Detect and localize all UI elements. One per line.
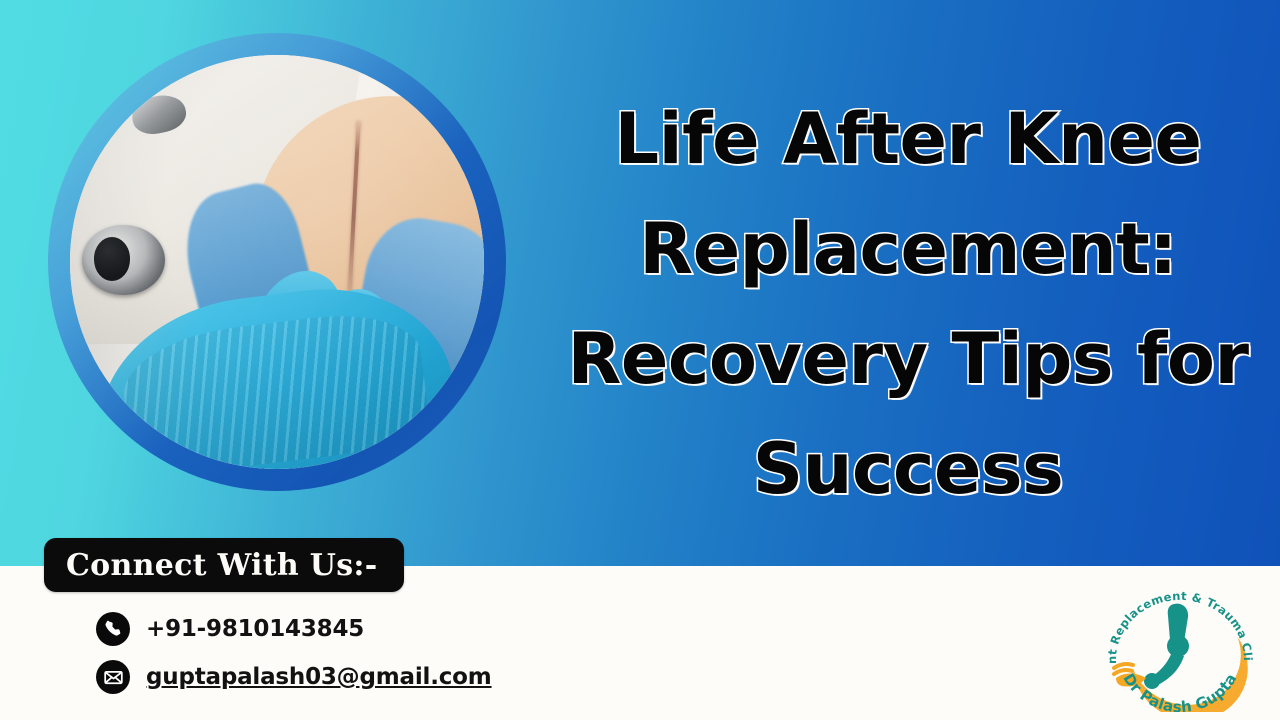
phone-number[interactable]: +91-9810143845 (146, 616, 364, 642)
envelope-icon (96, 660, 130, 694)
logo-bone-joint (1144, 604, 1189, 689)
photo-vignette (70, 55, 484, 469)
hero-photo-image (70, 55, 484, 469)
connect-with-us-badge: Connect With Us:- (44, 538, 404, 592)
connect-with-us-label: Connect With Us:- (66, 548, 378, 583)
contact-list: +91-9810143845 guptapalash03@gmail.com (96, 612, 492, 694)
page-title: Life After Knee Replacement: Recovery Ti… (552, 84, 1264, 524)
page-title-line-3: Recovery Tips for (552, 304, 1264, 414)
page-title-line-1: Life After Knee (552, 84, 1264, 194)
contact-row-phone[interactable]: +91-9810143845 (96, 612, 492, 646)
clinic-logo: Joint Replacement & Trauma Clinic Dr Pal… (1092, 586, 1268, 712)
page-title-line-2: Replacement: (552, 194, 1264, 304)
phone-icon (96, 612, 130, 646)
email-address[interactable]: guptapalash03@gmail.com (146, 664, 492, 690)
hero-photo (48, 33, 506, 491)
poster-canvas: Life After Knee Replacement: Recovery Ti… (0, 0, 1280, 720)
contact-row-email[interactable]: guptapalash03@gmail.com (96, 660, 492, 694)
page-title-line-4: Success (552, 414, 1264, 524)
